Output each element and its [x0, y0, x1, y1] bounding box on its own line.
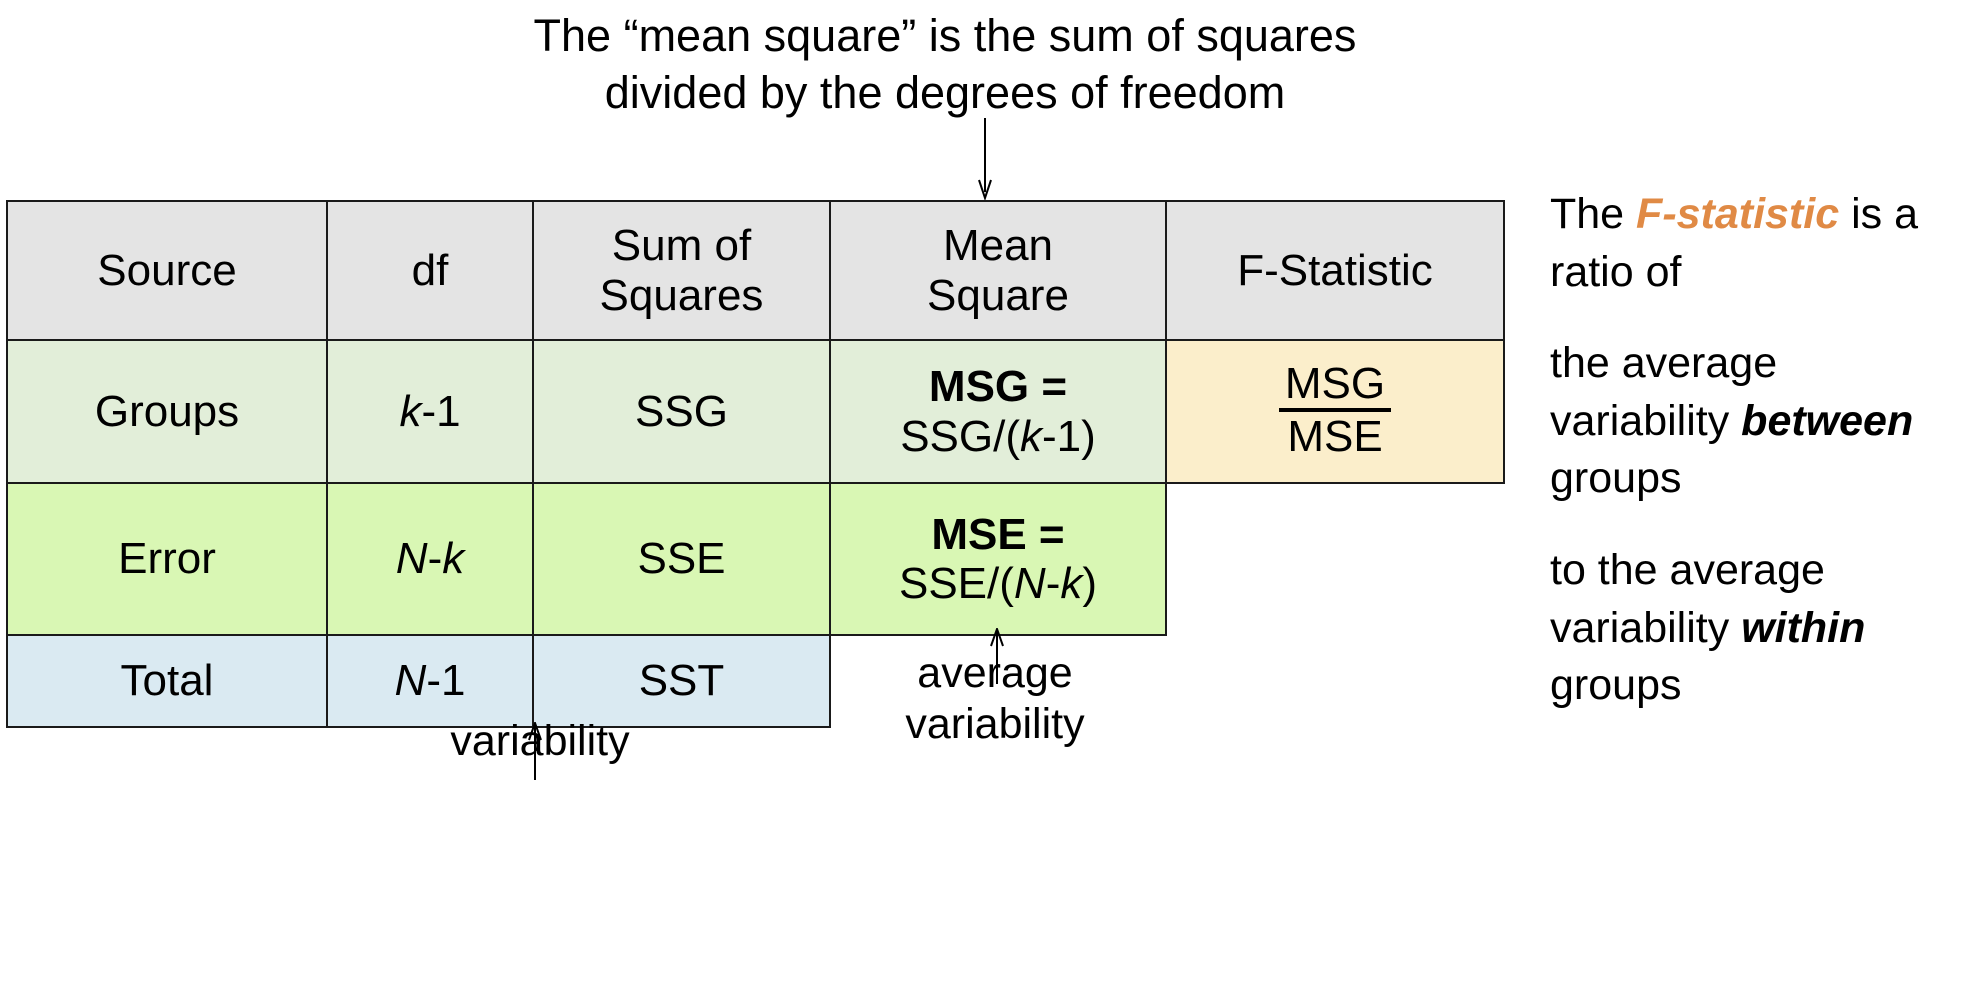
cell-error-df-n: N [396, 534, 428, 583]
table-header-row: Source df Sum of Squares Mean Square F-S… [7, 201, 1504, 340]
ms-formula-a: SSE/( [899, 559, 1014, 608]
annotation-avgvar-line1: average [850, 648, 1140, 699]
cell-error-ss: SSE [533, 483, 830, 635]
ms-formula-b: ) [1082, 559, 1097, 608]
top-caption-line2: divided by the degrees of freedom [380, 65, 1510, 122]
cell-error-ms: MSE = SSE/(N-k) [830, 483, 1166, 635]
annotation-variability: variability [400, 716, 680, 767]
header-cell-f-statistic: F-Statistic [1166, 201, 1504, 340]
cell-error-source: Error [7, 483, 327, 635]
cell-groups-ms: MSG = SSG/(k-1) [830, 340, 1166, 483]
right-paragraph-3: to the average variability within groups [1550, 542, 1960, 715]
f-ratio-fraction: MSG MSE [1279, 361, 1391, 460]
cell-groups-ss: SSG [533, 340, 830, 483]
f-ratio-numerator: MSG [1279, 361, 1391, 412]
annotation-average-variability: average variability [850, 648, 1140, 749]
right-paragraph-1: The F-statistic is a ratio of [1550, 186, 1960, 301]
cell-groups-ms-label: MSG = [831, 362, 1165, 411]
header-cell-sum-of-squares: Sum of Squares [533, 201, 830, 340]
ms-formula-b: -1) [1042, 412, 1096, 461]
cell-total-f-blank [1166, 635, 1504, 727]
ms-formula-a: SSG/( [900, 412, 1020, 461]
annotation-avgvar-line2: variability [850, 699, 1140, 750]
header-ms-line2: Square [831, 271, 1165, 320]
ms-formula-k: k [1020, 412, 1042, 461]
f-statistic-highlight: F-statistic [1636, 190, 1839, 238]
header-ss-line2: Squares [534, 271, 829, 320]
cell-total-df-n: N [395, 656, 427, 705]
cell-groups-ms-formula: SSG/(k-1) [831, 412, 1165, 461]
top-caption-line1: The “mean square” is the sum of squares [380, 8, 1510, 65]
between-emphasis: between [1741, 397, 1913, 445]
p2-after: groups [1550, 454, 1681, 502]
table-row-total: Total N-1 SST [7, 635, 1504, 727]
cell-groups-source: Groups [7, 340, 327, 483]
p3-after: groups [1550, 661, 1681, 709]
table-row-error: Error N-k SSE MSE = SSE/(N-k) [7, 483, 1504, 635]
cell-total-df: N-1 [327, 635, 533, 727]
cell-total-ss: SST [533, 635, 830, 727]
cell-error-ms-formula: SSE/(N-k) [831, 559, 1165, 608]
right-paragraph-2: the average variability between groups [1550, 335, 1960, 508]
cell-groups-df-suffix: -1 [421, 387, 460, 436]
header-cell-mean-square: Mean Square [830, 201, 1166, 340]
cell-groups-df: k-1 [327, 340, 533, 483]
header-ss-line1: Sum of [534, 221, 829, 270]
ms-formula-k: k [1060, 559, 1082, 608]
cell-error-df-k: k [442, 534, 464, 583]
cell-groups-f-statistic: MSG MSE [1166, 340, 1504, 483]
arrow-down-icon [978, 118, 992, 200]
cell-error-f-blank [1166, 483, 1504, 635]
cell-error-df-mid: - [428, 534, 443, 583]
cell-total-source: Total [7, 635, 327, 727]
cell-error-df: N-k [327, 483, 533, 635]
p1-before: The [1550, 190, 1636, 238]
cell-total-df-suffix: -1 [426, 656, 465, 705]
top-caption: The “mean square” is the sum of squares … [380, 8, 1510, 121]
right-explanation-panel: The F-statistic is a ratio of the averag… [1550, 186, 1960, 715]
header-cell-source: Source [7, 201, 327, 340]
f-ratio-denominator: MSE [1279, 412, 1391, 460]
within-emphasis: within [1741, 604, 1865, 652]
cell-error-ms-label: MSE = [831, 510, 1165, 559]
ms-formula-mid: - [1046, 559, 1061, 608]
table-row-groups: Groups k-1 SSG MSG = SSG/(k-1) MSG MSE [7, 340, 1504, 483]
anova-table: Source df Sum of Squares Mean Square F-S… [6, 200, 1505, 728]
header-ms-line1: Mean [831, 221, 1165, 270]
header-cell-df: df [327, 201, 533, 340]
ms-formula-n: N [1014, 559, 1046, 608]
cell-groups-df-symbol: k [399, 387, 421, 436]
